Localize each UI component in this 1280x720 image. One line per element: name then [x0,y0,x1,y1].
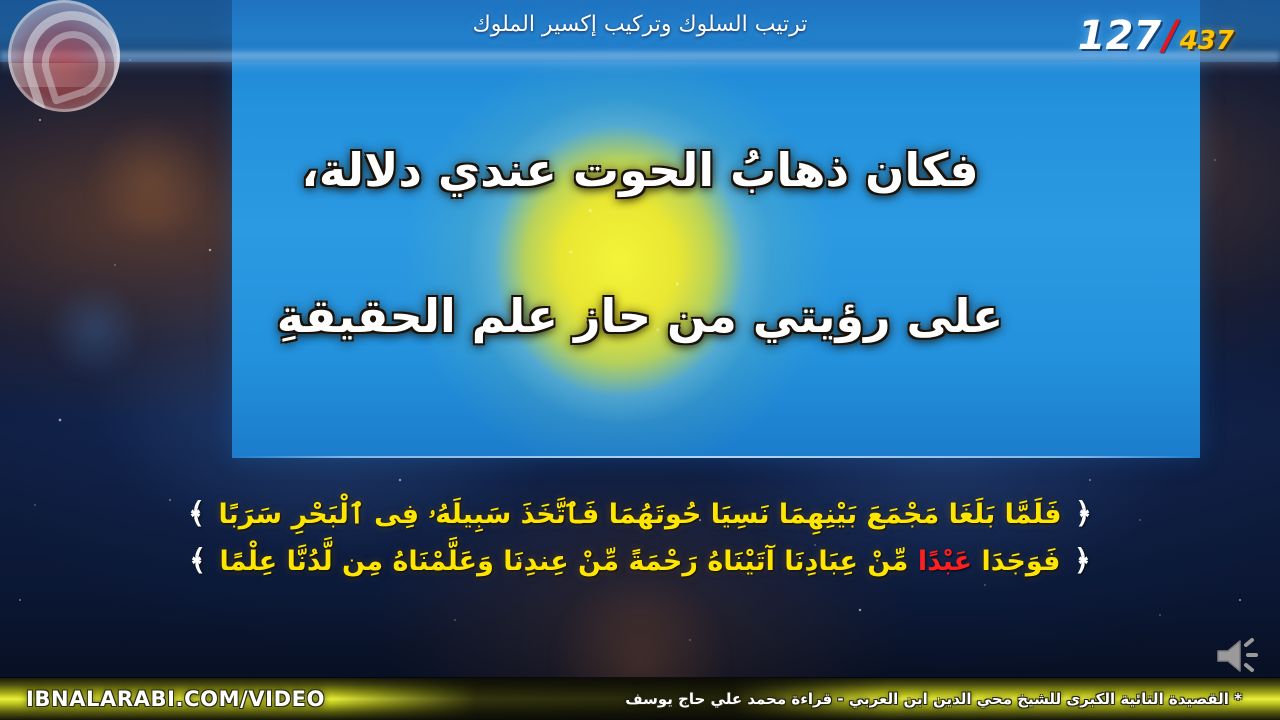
footer-bar: IBNALARABI.COM/VIDEO * القصيدة التائية ا… [0,678,1280,720]
verse-2-text-before: فَوَجَدَا [972,546,1060,577]
verse-2-text-after: مِّنْ عِبَادِنَا آتَيْنَاهُ رَحْمَةً مِّ… [220,546,918,577]
volume-speaker-icon[interactable] [1210,634,1266,678]
ornament-open-icon: ﴿ [1071,496,1096,530]
verse-line-1: ﴿ فَلَمَّا بَلَغَا مَجْمَعَ بَيْنِهِمَا … [0,490,1280,537]
site-url[interactable]: IBNALARABI.COM/VIDEO [26,678,325,720]
ornament-close-icon: ﴾ [184,496,209,530]
poem-line-2: على رؤيتي من حاز علم الحقيقةِ [140,288,1140,346]
footer-caption: * القصيدة التائية الكبرى للشيخ محي الدين… [625,678,1242,720]
verse-2-highlight: عَبْدًا [918,546,972,577]
verse-line-2: ﴿ فَوَجَدَا عَبْدًا مِّنْ عِبَادِنَا آتَ… [0,537,1280,584]
counter-separator: / [1163,16,1178,56]
section-divider [232,456,1200,458]
poem-line-1: فكان ذهابُ الحوت عندي دلالة، [140,142,1140,200]
counter-total: 437 [1180,28,1234,54]
logo-streak [8,63,120,88]
slide-counter: 127 / 437 [1078,16,1234,56]
verse-1-text: فَلَمَّا بَلَغَا مَجْمَعَ بَيْنِهِمَا نَ… [218,499,1061,530]
ornament-close-icon: ﴾ [185,543,210,577]
quran-verses: ﴿ فَلَمَّا بَلَغَا مَجْمَعَ بَيْنِهِمَا … [0,490,1280,584]
counter-current: 127 [1078,16,1162,56]
video-frame: ترتيب السلوك وتركيب إكسير الملوك 127 / 4… [0,0,1280,720]
ornament-open-icon: ﴿ [1070,543,1095,577]
